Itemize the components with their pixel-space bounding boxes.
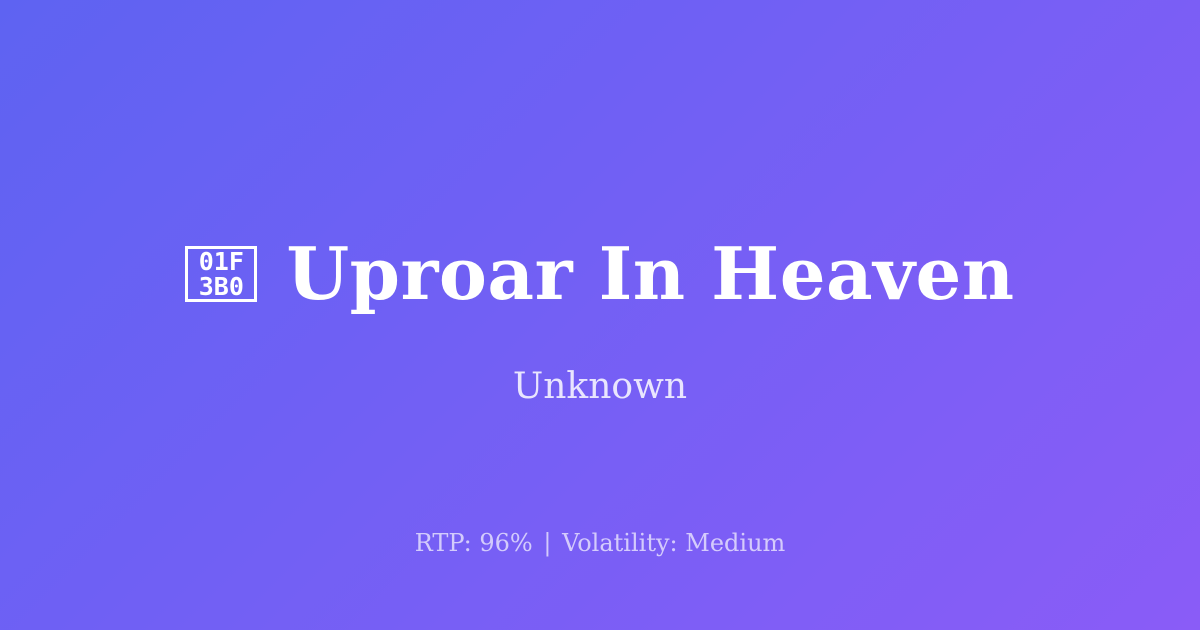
game-meta-line: RTP: 96% | Volatility: Medium (0, 528, 1200, 558)
rtp-value: RTP: 96% (415, 529, 533, 557)
slot-machine-icon-codepoint-low: 3B0 (199, 274, 244, 299)
volatility-value: Volatility: Medium (562, 529, 785, 557)
hero-banner: 01F 3B0 Uproar In Heaven Unknown RTP: 96… (0, 0, 1200, 630)
meta-separator: | (540, 529, 554, 557)
slot-machine-icon: 01F 3B0 (185, 246, 257, 302)
slot-machine-icon-codepoint-high: 01F (199, 249, 244, 274)
subtitle: Unknown (0, 365, 1200, 409)
title-row: 01F 3B0 Uproar In Heaven (0, 234, 1200, 314)
page-title: Uproar In Heaven (286, 234, 1014, 314)
